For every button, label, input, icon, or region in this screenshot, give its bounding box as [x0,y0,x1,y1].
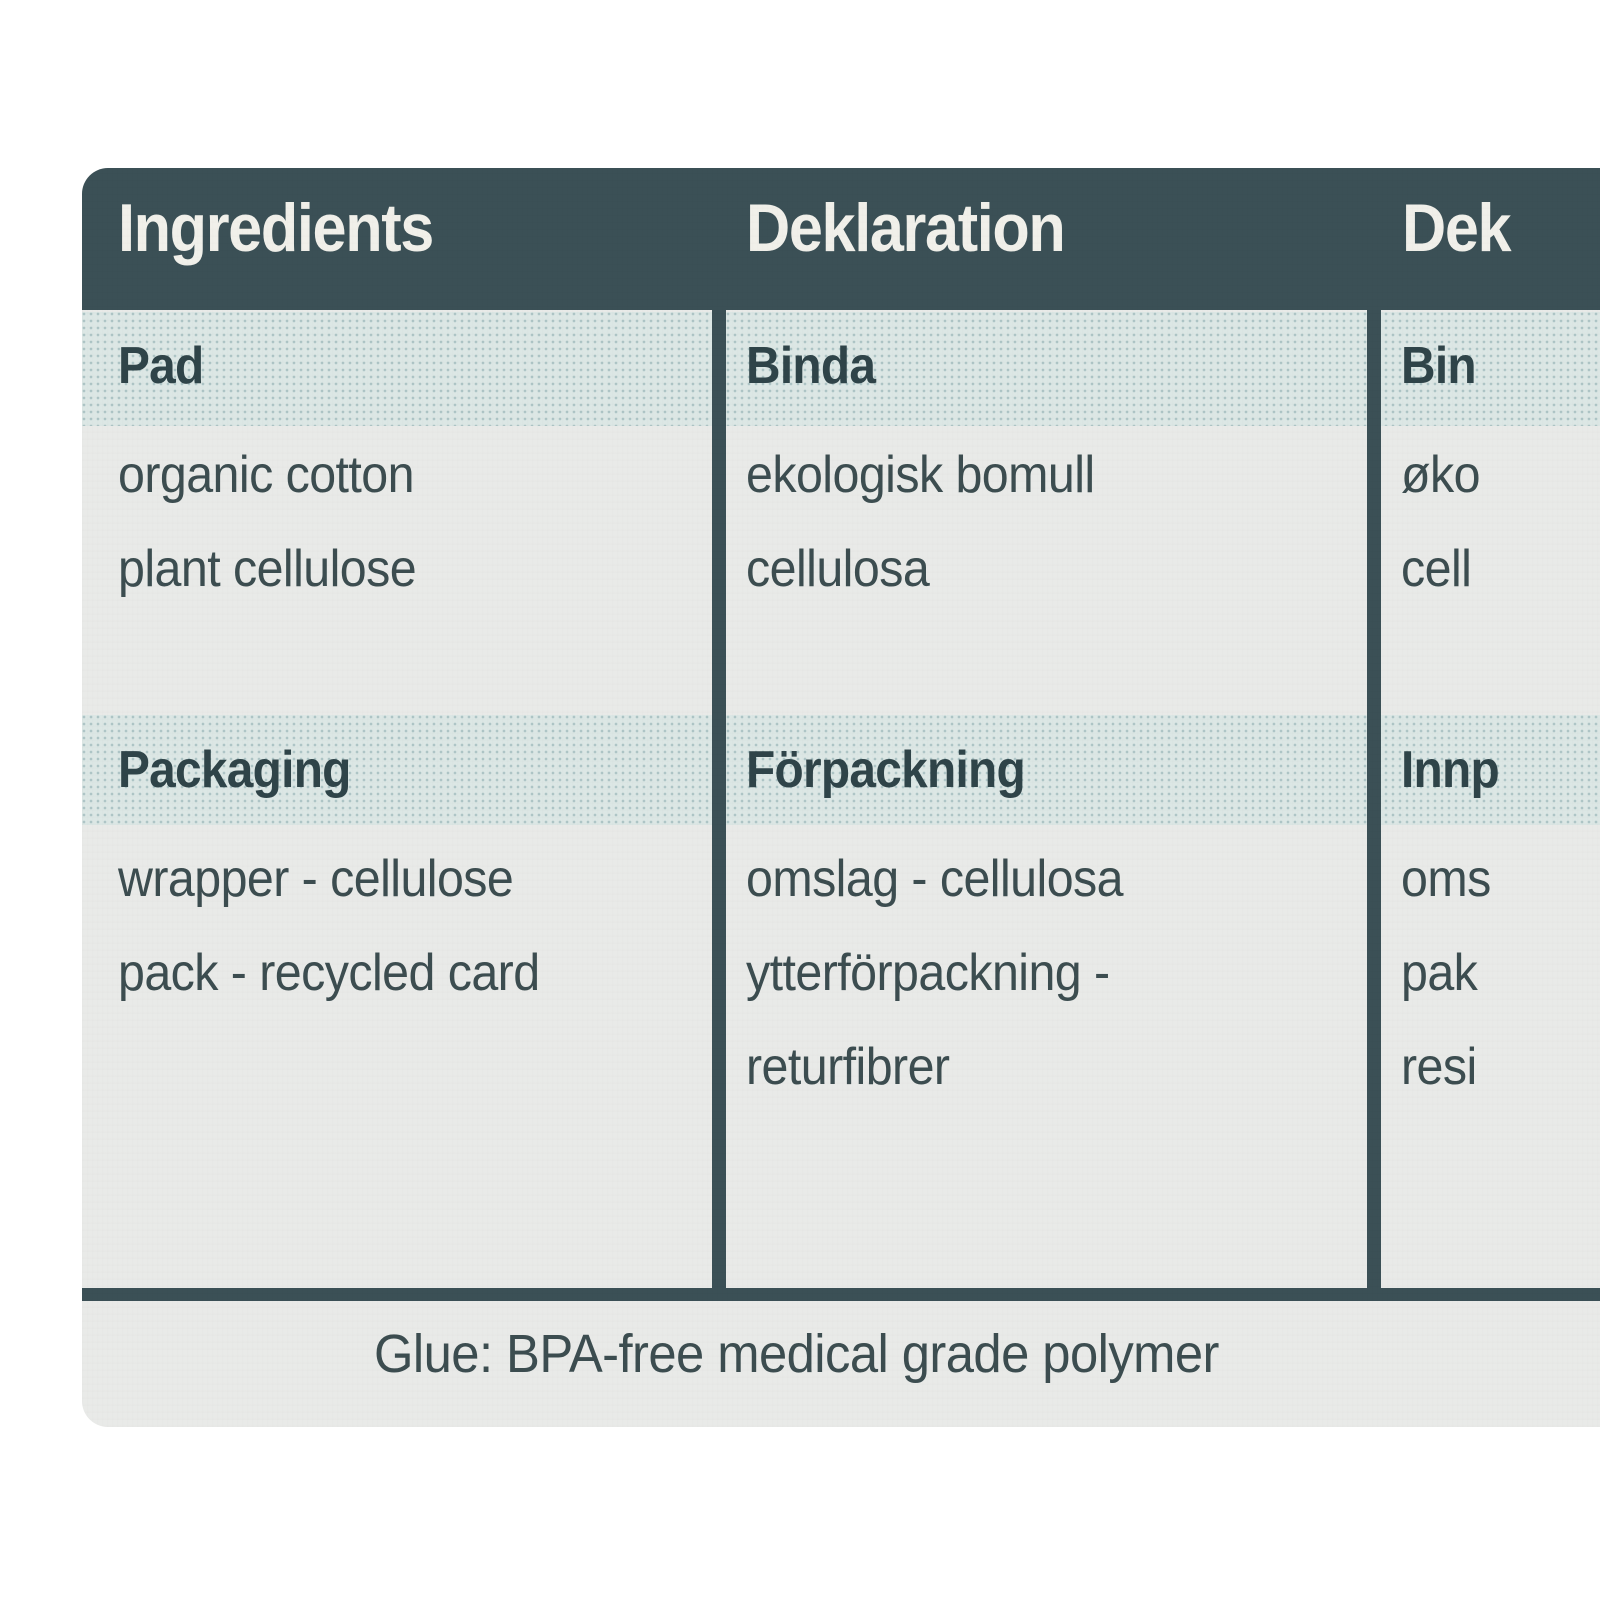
ingredient-line: oms [1401,832,1491,926]
section-heading-binda: Binda [746,340,875,392]
ingredient-line: pak [1401,926,1491,1020]
ingredient-line: pack - recycled card [118,926,540,1020]
column-title-ingredients: Ingredients [118,194,433,262]
section-heading-packaging: Packaging [118,744,351,796]
ingredient-line: cellulosa [746,522,1095,616]
section-heading-bind: Bin [1401,340,1476,392]
ingredients-column-english: Pad organic cotton plant cellulose Packa… [82,310,712,1288]
ingredient-line: øko [1401,428,1480,522]
column-divider-2 [1367,310,1381,1288]
section-lines-pad-en: organic cotton plant cellulose [118,428,416,616]
ingredient-line: returfibrer [746,1020,1123,1114]
ingredient-line: plant cellulose [118,522,416,616]
glue-note-text: Glue: BPA-free medical grade polymer [374,1327,1219,1381]
ingredient-line: cell [1401,522,1480,616]
ingredient-line: ekologisk bomull [746,428,1095,522]
section-lines-innpakning-no: oms pak resi [1401,832,1491,1114]
glue-note-row: Glue: BPA-free medical grade polymer [82,1301,1600,1427]
ingredient-line: resi [1401,1020,1491,1114]
column-divider-1 [712,310,726,1288]
section-lines-bind-no: øko cell [1401,428,1480,616]
ingredients-table-body: Pad organic cotton plant cellulose Packa… [82,310,1600,1288]
ingredient-line: organic cotton [118,428,416,522]
section-heading-forpackning: Förpackning [746,744,1025,796]
column-title-deklaration-no: Dek [1402,194,1510,262]
section-lines-packaging-en: wrapper - cellulose pack - recycled card [118,832,540,1020]
section-heading-pad: Pad [118,340,204,392]
ingredient-line: ytterförpackning - [746,926,1123,1020]
section-heading-innpakning: Innp [1401,744,1499,796]
ingredient-line: omslag - cellulosa [746,832,1123,926]
ingredients-column-swedish: Binda ekologisk bomull cellulosa Förpack… [726,310,1367,1288]
ingredients-label-card: Ingredients Deklaration Dek Pad organic … [82,168,1600,1427]
footer-divider-rule [82,1288,1600,1301]
label-header-band: Ingredients Deklaration Dek [82,168,1600,310]
column-title-deklaration-sv: Deklaration [746,194,1064,262]
section-lines-binda-sv: ekologisk bomull cellulosa [746,428,1095,616]
ingredients-column-norwegian: Bin øko cell Innp oms pak resi [1381,310,1600,1288]
section-lines-forpackning-sv: omslag - cellulosa ytterförpackning - re… [746,832,1123,1114]
ingredient-line: wrapper - cellulose [118,832,540,926]
